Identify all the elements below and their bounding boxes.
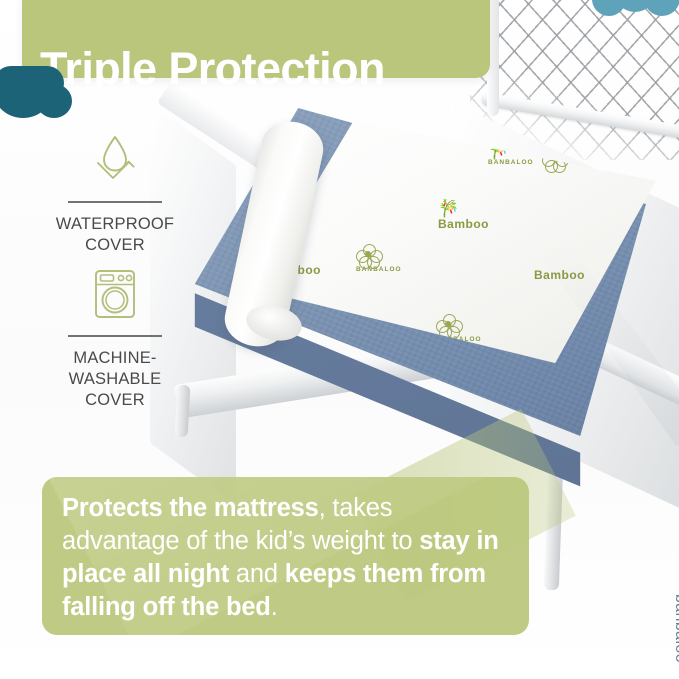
feature-waterproof-cover: WATERPROOF COVER	[30, 128, 200, 256]
washing-machine-icon	[86, 265, 144, 323]
water-drop-repel-icon	[84, 129, 146, 191]
motif-flower: BANBALOO	[436, 314, 482, 343]
flower-icon	[436, 314, 462, 336]
feature-washable-line1: MACHINE-	[30, 348, 200, 369]
bamboo-stalk-icon: 🎋	[488, 142, 534, 159]
product-infographic: 🎋 Bamboo BANBALOO 🎋 Bamboo 🎋 BANBALOO	[0, 0, 679, 679]
brand-logo: banbaloo	[671, 594, 679, 663]
page-title: Triple Protection	[40, 46, 385, 91]
motif-brand-label: BANBALOO	[314, 314, 360, 321]
motif-bamboo-label: Bamboo	[438, 217, 489, 231]
flower-icon	[356, 244, 382, 266]
body-banner-segment-3: and	[229, 560, 285, 588]
motif-flower	[542, 148, 568, 170]
bamboo-stalk-icon: 🎋	[438, 200, 489, 217]
motif-bamboo: 🎋 BANBALOO	[488, 142, 534, 166]
feature-waterproof-label: WATERPROOF COVER	[30, 214, 200, 256]
waterproof-icon-wrap	[30, 128, 200, 192]
body-banner-segment-0: Protects the mattress	[62, 494, 319, 522]
motif-brand-label: BANBALOO	[488, 159, 534, 166]
feature-waterproof-line2: COVER	[30, 235, 200, 256]
feature-washable-line3: COVER	[30, 390, 200, 411]
teal-blob-decoration	[0, 66, 82, 118]
body-banner-text: Protects the mattress, takes advantage o…	[62, 492, 514, 625]
feature-machine-washable-cover: MACHINE- WASHABLE COVER	[30, 262, 200, 410]
motif-brand: BANBALOO	[314, 314, 360, 321]
feature-divider	[68, 201, 162, 203]
motif-bamboo: 🎋 Bamboo	[438, 200, 489, 231]
feature-divider	[68, 335, 162, 337]
washable-icon-wrap	[30, 262, 200, 326]
motif-brand-label: BANBALOO	[436, 336, 482, 343]
motif-flower: BANBALOO	[356, 244, 402, 273]
feature-washable-label: MACHINE- WASHABLE COVER	[30, 348, 200, 410]
feature-washable-line2: WASHABLE	[30, 369, 200, 390]
feature-waterproof-line1: WATERPROOF	[30, 214, 200, 235]
body-banner-segment-5: .	[271, 593, 278, 621]
cloud-decoration-icon	[592, 0, 679, 32]
flower-icon	[542, 148, 568, 170]
